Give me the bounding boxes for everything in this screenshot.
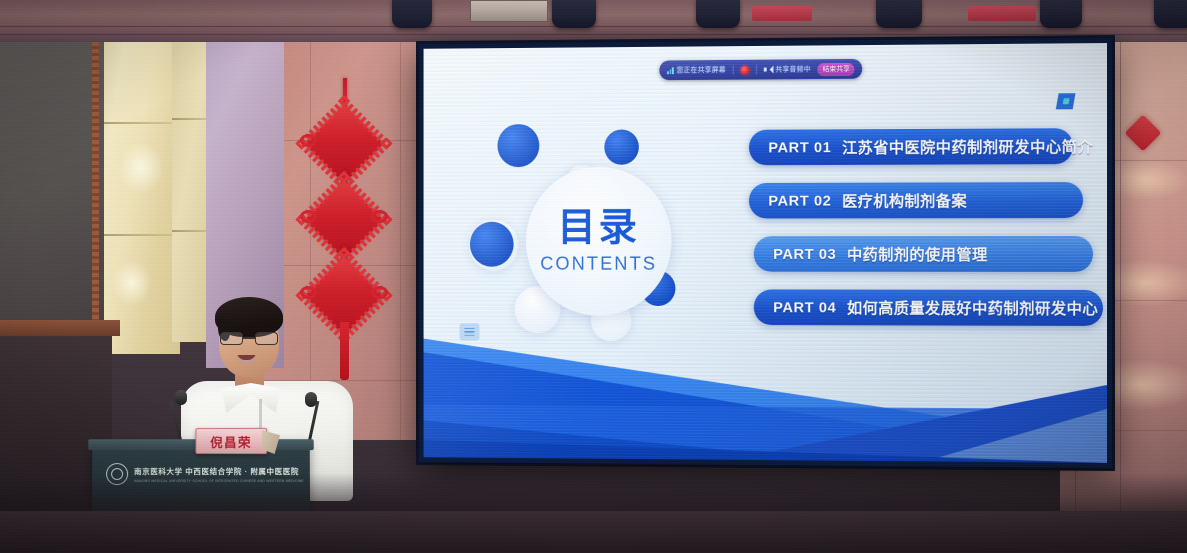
screen-content: 目录 CONTENTS PART 01 江苏省中医院中药制剂研发中心简介 PAR… — [424, 43, 1107, 463]
audio-status-group: 共享音频中 — [764, 64, 811, 74]
decor-bubble — [497, 124, 539, 167]
agenda-item-1[interactable]: PART 01 江苏省中医院中药制剂研发中心简介 — [749, 128, 1073, 165]
presenter-glasses — [220, 332, 278, 345]
agenda-text-2: 医疗机构制剂备案 — [842, 189, 967, 211]
ceiling-fixture — [696, 0, 740, 28]
stop-share-button[interactable]: 结束共享 — [818, 62, 855, 75]
chinese-knot — [316, 192, 372, 248]
toolbar-divider — [756, 65, 757, 75]
toolbar-divider — [733, 65, 734, 75]
contents-circle: 目录 CONTENTS — [526, 167, 672, 316]
led-display-screen[interactable]: 目录 CONTENTS PART 01 江苏省中医院中药制剂研发中心简介 PAR… — [419, 38, 1112, 468]
contents-title-cn: 目录 — [557, 207, 639, 246]
ceiling-fixture — [876, 0, 922, 28]
corner-marker-icon — [1056, 93, 1076, 109]
ceiling-fixture — [1154, 0, 1187, 28]
speaker-icon — [764, 66, 773, 74]
decor-bubble — [470, 222, 514, 267]
record-dot-icon[interactable] — [740, 65, 749, 74]
wall-lower-brick — [0, 320, 120, 336]
ceiling-red-strip — [968, 6, 1036, 21]
decor-bubble — [604, 129, 639, 164]
signal-bars-icon — [667, 66, 674, 74]
microphone-head — [175, 390, 187, 405]
audio-status-label: 共享音频中 — [775, 64, 811, 74]
agenda-number-1: PART 01 — [768, 139, 831, 156]
share-status-group: 您正在共享屏幕 — [667, 65, 726, 75]
presenter-hair — [215, 297, 283, 337]
slide-bottom-graphic — [424, 311, 1107, 463]
agenda-number-2: PART 02 — [768, 192, 831, 209]
microphone-head — [305, 392, 317, 407]
wall-cream-column-a — [104, 24, 180, 354]
conference-hall-photo: 目录 CONTENTS PART 01 江苏省中医院中药制剂研发中心简介 PAR… — [0, 0, 1187, 553]
agenda-text-1: 江苏省中医院中药制剂研发中心简介 — [842, 135, 1093, 158]
ceiling-fixture — [552, 0, 596, 28]
speaker-nameplate: 倪昌荣 — [195, 428, 267, 454]
agenda-text-3: 中药制剂的使用管理 — [847, 243, 988, 265]
agenda-item-3[interactable]: PART 03 中药制剂的使用管理 — [754, 236, 1093, 272]
wall-seam — [1120, 10, 1121, 530]
ceiling-red-strip — [752, 6, 812, 21]
speaker-name: 倪昌荣 — [210, 431, 252, 450]
share-status-label: 您正在共享屏幕 — [676, 65, 725, 75]
contents-title-en: CONTENTS — [540, 253, 657, 275]
agenda-item-2[interactable]: PART 02 医疗机构制剂备案 — [749, 182, 1083, 218]
agenda-number-3: PART 03 — [773, 246, 836, 263]
brick-trim — [92, 28, 99, 338]
stage-front-edge — [0, 511, 1187, 553]
ceiling-fixture — [1040, 0, 1082, 28]
ceiling-fixture — [392, 0, 432, 28]
screen-share-toolbar[interactable]: 您正在共享屏幕 共享音频中 结束共享 — [659, 59, 862, 80]
chinese-knot — [316, 116, 372, 172]
ceiling-panel — [470, 0, 548, 22]
